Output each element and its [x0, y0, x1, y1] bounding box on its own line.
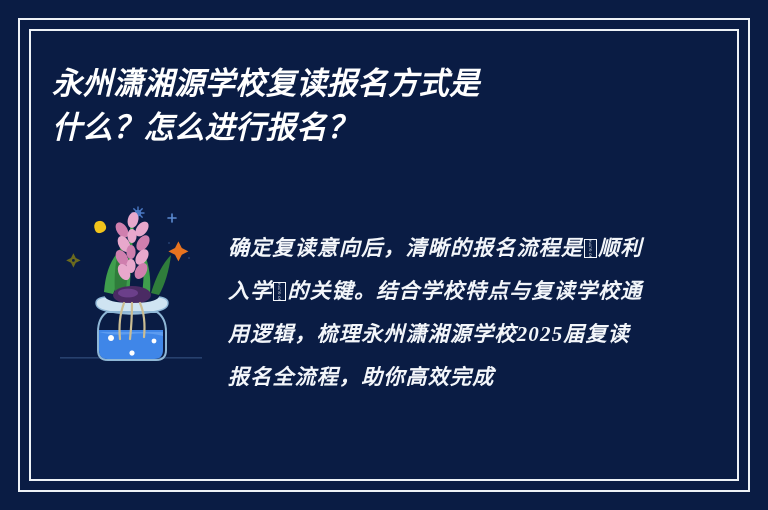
missing-glyph-box-close	[273, 282, 286, 301]
plus-sparkle-icon	[168, 214, 176, 222]
flower-bulb-icon	[113, 286, 151, 304]
body-segment-3: 的关键。结合学校特点与复读学校通用逻辑，梳理永州潇湘源学校2025届复读报名全流…	[228, 279, 643, 389]
blob-sparkle-yellow-icon	[94, 221, 106, 233]
body-text: 确定复读意向后，清晰的报名流程是顺利入学的关键。结合学校特点与复读学校通用逻辑，…	[228, 227, 652, 399]
flower-petals-icon	[113, 211, 152, 282]
title-line-1: 永州潇湘源学校复读报名方式是	[52, 62, 634, 106]
star-sparkle-orange-icon	[168, 241, 190, 261]
star-sparkle-olive-icon	[66, 253, 80, 267]
title-line-2: 什么？怎么进行报名？	[52, 106, 634, 150]
missing-glyph-box-open	[584, 239, 597, 258]
body-paragraph: 确定复读意向后，清晰的报名流程是顺利入学的关键。结合学校特点与复读学校通用逻辑，…	[228, 206, 652, 420]
hyacinth-illustration	[58, 196, 204, 378]
body-segment-1: 确定复读意向后，清晰的报名流程是	[228, 236, 583, 260]
page-title: 永州潇湘源学校复读报名方式是 什么？怎么进行报名？	[52, 62, 652, 150]
poster-canvas: 永州潇湘源学校复读报名方式是 什么？怎么进行报名？	[0, 0, 768, 510]
